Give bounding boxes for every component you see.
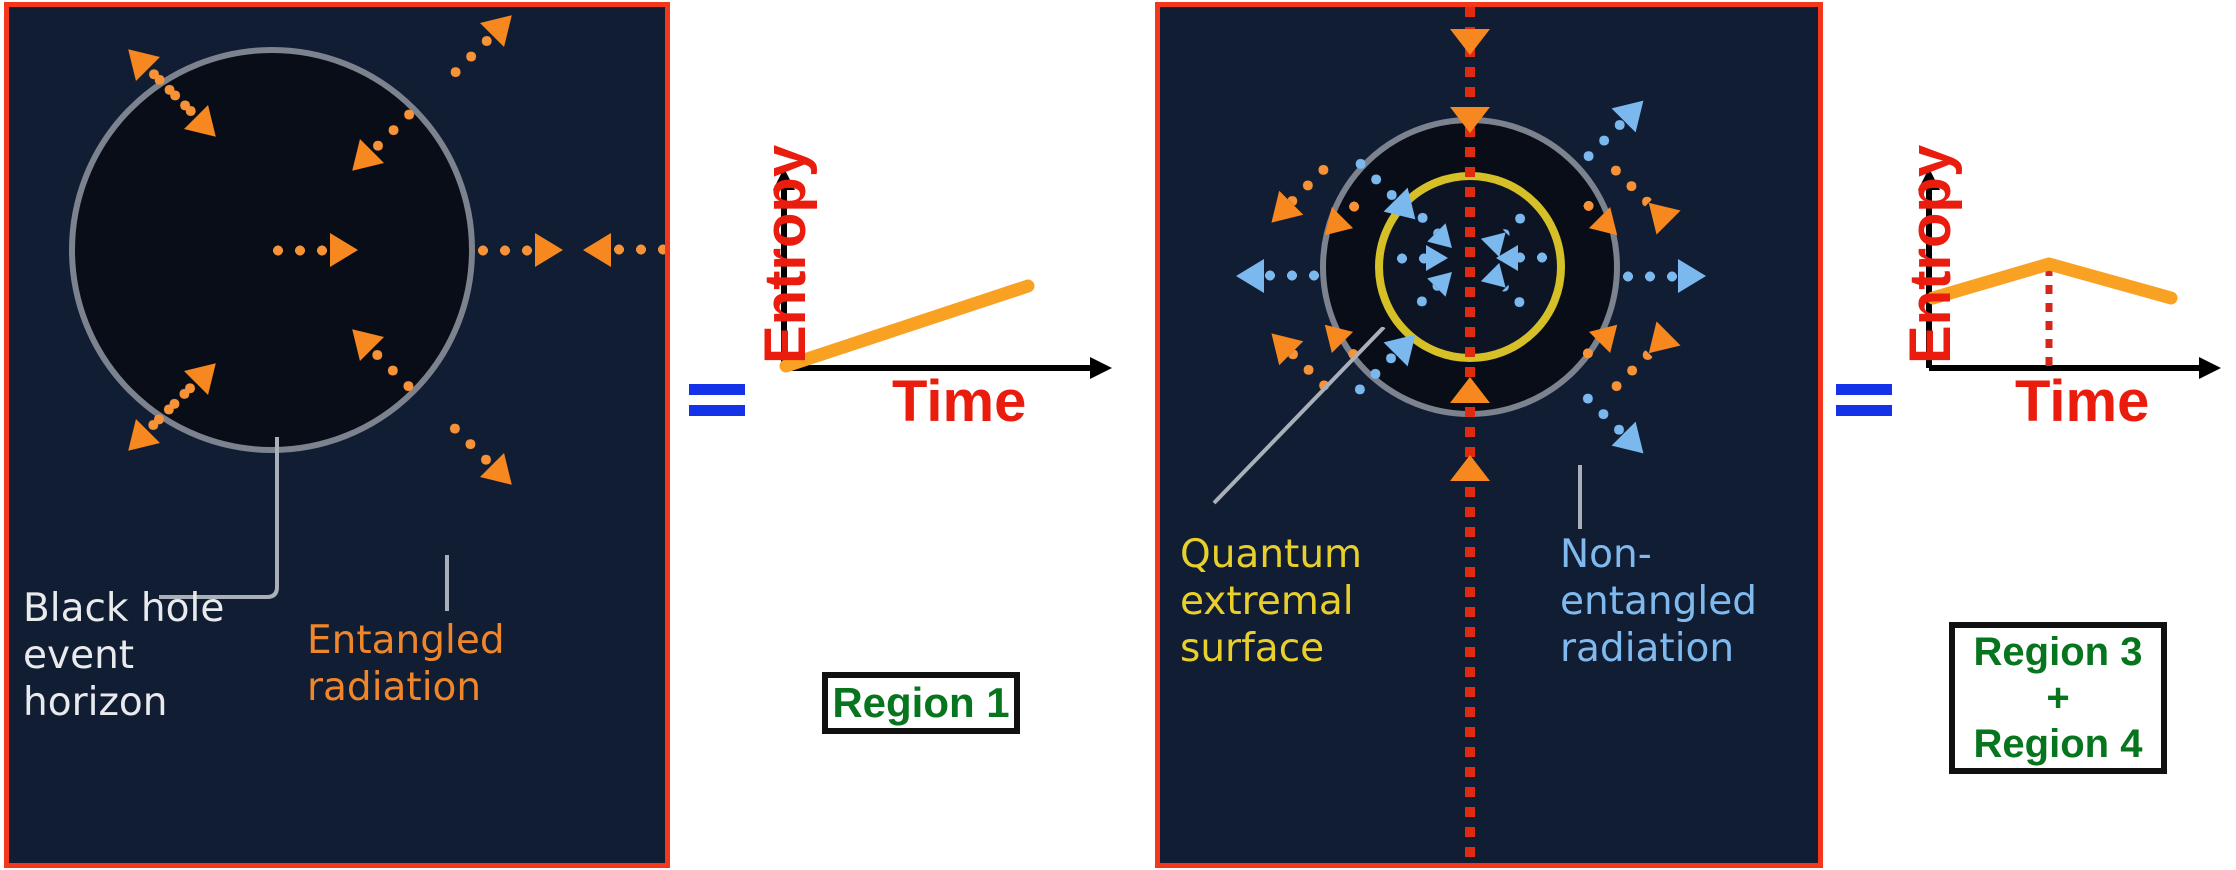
- region-1-box: Region 1: [822, 672, 1020, 734]
- plus-sign: +: [2046, 675, 2069, 721]
- infalling-outer-ray: [1604, 326, 1676, 398]
- escaping-radiation-ray: [1576, 386, 1651, 461]
- arrow-icon: [1259, 321, 1303, 365]
- chart2-x-axis-label: Time: [2015, 368, 2149, 435]
- entangled-pair-ray: [583, 239, 669, 261]
- non-entangled-radiation-label: Non- entangled radiation: [1560, 531, 1823, 672]
- panel-island-phase-black-hole: Quantum extremal surface Non- entangled …: [1155, 2, 1823, 868]
- chart-entropy-growing: Entropy Time: [760, 168, 1120, 388]
- infalling-outer-ray: [1264, 158, 1336, 230]
- infalling-outer-ray: [1264, 326, 1336, 398]
- escaping-radiation-ray: [1576, 93, 1651, 168]
- chart2-y-axis-label: Entropy: [1897, 145, 1964, 364]
- arrow-icon: [1637, 191, 1681, 235]
- arrow-down-icon: [1450, 29, 1490, 55]
- escaping-radiation-ray: [1236, 265, 1320, 287]
- arrow-icon: [1612, 89, 1656, 133]
- arrow-icon: [116, 419, 160, 463]
- non-entangled-leader-line: [1572, 465, 1592, 535]
- arrow-icon: [535, 233, 563, 267]
- arrow-icon: [1259, 191, 1303, 235]
- region-1-label: Region 1: [832, 679, 1009, 727]
- chart-page-curve: Entropy Time: [1905, 168, 2235, 388]
- entangled-pair-ray: [443, 7, 519, 83]
- arrow-icon: [480, 453, 524, 497]
- arrow-icon: [480, 3, 524, 47]
- black-hole-disk-left: [69, 47, 475, 453]
- chart1-y-axis-label: Entropy: [752, 145, 819, 364]
- panel-evaporating-black-hole: Black hole event horizon Entangled radia…: [4, 2, 670, 868]
- radiation-leader-line: [439, 555, 459, 615]
- region-4-label: Region 4: [1974, 721, 2143, 767]
- escaping-radiation-ray: [1622, 265, 1706, 287]
- arrow-icon: [1637, 321, 1681, 365]
- infalling-outer-ray: [1604, 158, 1676, 230]
- region-3-plus-4-box: Region 3 + Region 4: [1949, 622, 2167, 774]
- arrow-icon: [1612, 422, 1656, 466]
- arrow-down-icon: [1450, 107, 1490, 133]
- arrow-icon: [116, 37, 160, 81]
- series-hawking-entropy: [786, 286, 1028, 366]
- arrow-up-icon: [1450, 377, 1490, 403]
- page-time-axis: [1465, 7, 1475, 863]
- figure-canvas: Black hole event horizon Entangled radia…: [0, 0, 2236, 870]
- chart1-x-axis-label: Time: [892, 368, 1026, 435]
- black-hole-horizon-label: Black hole event horizon: [23, 585, 323, 726]
- entangled-pair-ray: [477, 239, 563, 261]
- region-3-label: Region 3: [1974, 629, 2143, 675]
- equals-sign-right: [1836, 380, 1892, 420]
- equals-sign-left: [689, 380, 745, 420]
- arrow-icon: [1236, 259, 1264, 293]
- entangled-pair-ray: [443, 416, 519, 492]
- quantum-extremal-surface-label: Quantum extremal surface: [1180, 531, 1480, 672]
- arrow-up-icon: [1450, 455, 1490, 481]
- entangled-radiation-label: Entangled radiation: [307, 617, 637, 711]
- arrow-icon: [1678, 259, 1706, 293]
- arrow-icon: [583, 233, 611, 267]
